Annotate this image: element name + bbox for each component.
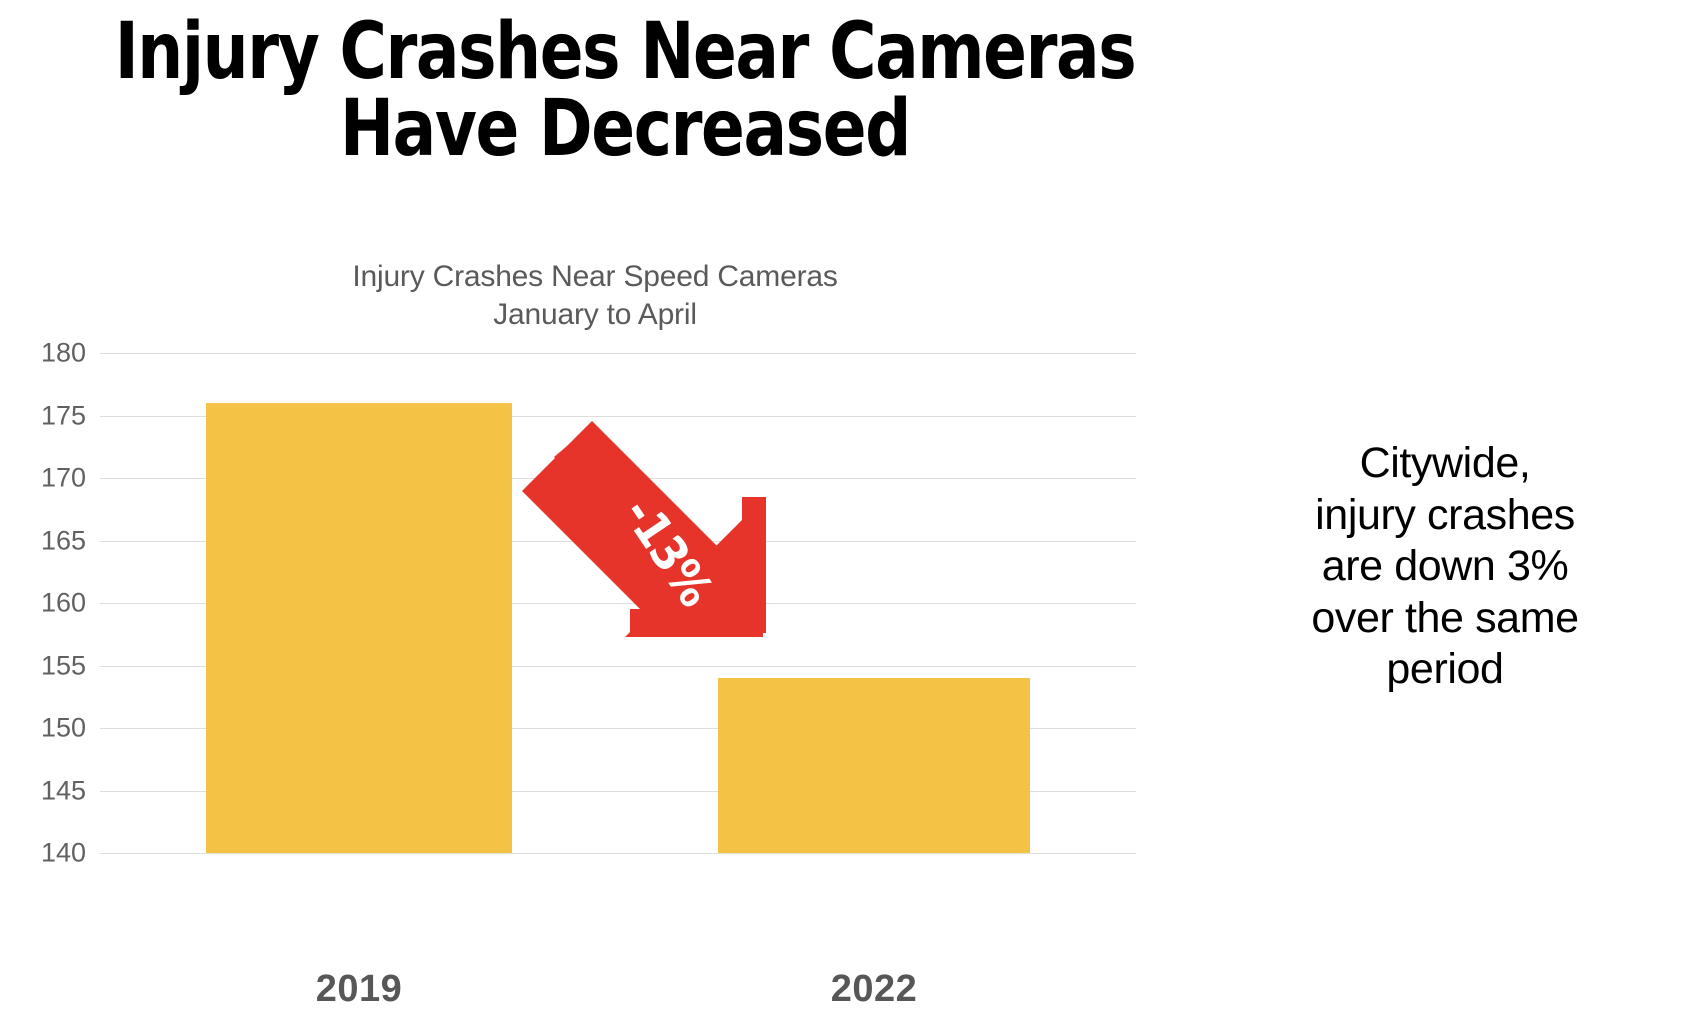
y-axis-tick-label: 170 [41, 463, 86, 494]
gridline: 140 [100, 853, 1136, 854]
chart-title: Injury Crashes Near Speed Cameras Januar… [95, 258, 1095, 333]
citywide-note: Citywide, injury crashes are down 3% ove… [1205, 438, 1685, 696]
y-axis-tick-label: 180 [41, 338, 86, 369]
y-axis-tick-label: 140 [41, 838, 86, 869]
bar-chart: Injury Crashes Near Speed Cameras Januar… [0, 250, 1190, 990]
y-axis-tick-label: 160 [41, 588, 86, 619]
y-axis-tick-label: 165 [41, 525, 86, 556]
bar-2019 [206, 403, 512, 853]
page-title: Injury Crashes Near Cameras Have Decreas… [105, 14, 1145, 168]
y-axis-tick-label: 150 [41, 713, 86, 744]
y-axis-tick-label: 155 [41, 650, 86, 681]
x-axis-label-2022: 2022 [718, 968, 1030, 1011]
y-axis-tick-label: 175 [41, 400, 86, 431]
bar-2022 [718, 678, 1030, 853]
plot-area: 180 175 170 165 160 155 150 145 [100, 353, 1136, 853]
y-axis-tick-label: 145 [41, 775, 86, 806]
slide-canvas: Injury Crashes Near Cameras Have Decreas… [0, 0, 1697, 1027]
x-axis-label-2019: 2019 [206, 968, 512, 1011]
gridline: 180 [100, 353, 1136, 354]
